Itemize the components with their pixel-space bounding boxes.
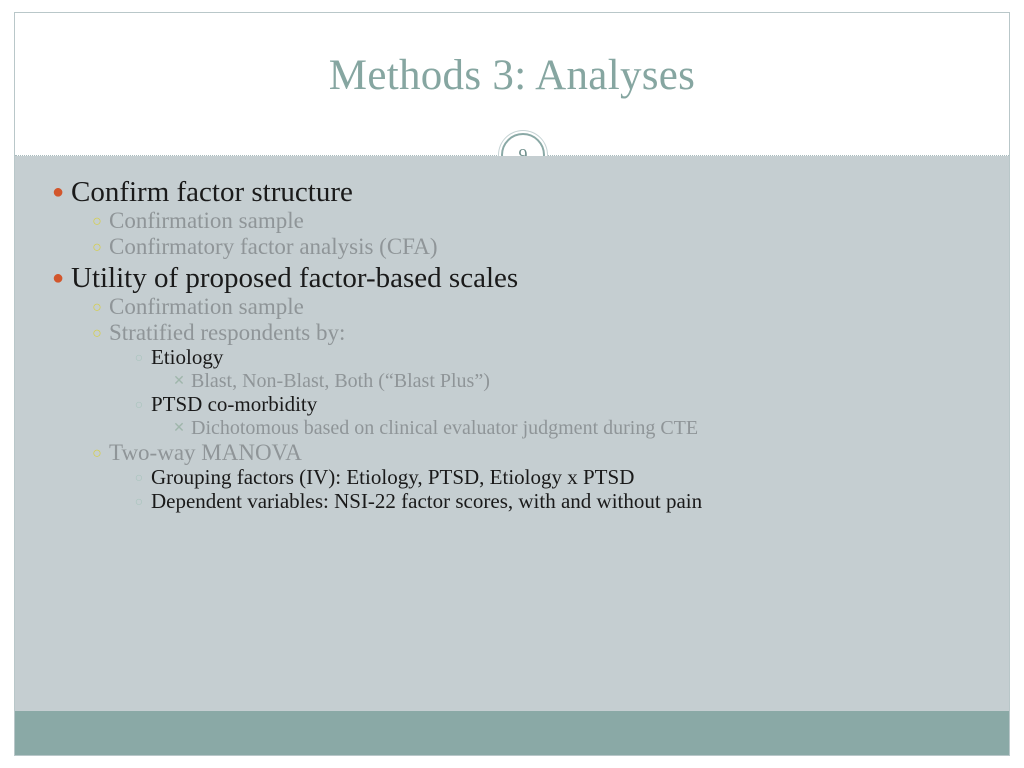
bullet-text: Two-way MANOVA [109, 441, 302, 464]
bullet-row: ○Dependent variables: NSI-22 factor scor… [127, 491, 985, 512]
bullet-text: Dichotomous based on clinical evaluator … [191, 418, 698, 438]
bullet-row: ○Etiology [127, 347, 985, 368]
bullet-row: ○Confirmation sample [85, 295, 985, 318]
bullet-marker-icon: ● [45, 182, 71, 202]
bullet-row: ✕Blast, Non-Blast, Both (“Blast Plus”) [167, 371, 985, 391]
bullet-text: PTSD co-morbidity [151, 394, 317, 415]
bullet-row: ○Two-way MANOVA [85, 441, 985, 464]
bullet-marker-icon: ✕ [167, 375, 191, 389]
bullet-text: Grouping factors (IV): Etiology, PTSD, E… [151, 467, 634, 488]
bullet-text: Confirmation sample [109, 295, 304, 318]
bullet-marker-icon: ○ [85, 300, 109, 316]
bullet-row: ○Stratified respondents by: [85, 321, 985, 344]
footer-bar [15, 711, 1009, 755]
bullet-list: ●Confirm factor structure○Confirmation s… [39, 178, 985, 512]
bullet-marker-icon: ✕ [167, 422, 191, 436]
bullet-marker-icon: ● [45, 268, 71, 288]
bullet-marker-icon: ○ [85, 446, 109, 462]
page-title: Methods 3: Analyses [15, 51, 1009, 100]
bullet-text: Utility of proposed factor-based scales [71, 264, 518, 293]
bullet-row: ○PTSD co-morbidity [127, 394, 985, 415]
bullet-marker-icon: ○ [85, 240, 109, 256]
slide-body: ●Confirm factor structure○Confirmation s… [15, 156, 1009, 713]
bullet-marker-icon: ○ [127, 496, 151, 510]
bullet-text: Blast, Non-Blast, Both (“Blast Plus”) [191, 371, 490, 391]
bullet-text: Stratified respondents by: [109, 321, 345, 344]
slide-canvas: Methods 3: Analyses 9 ●Confirm factor st… [14, 12, 1010, 756]
bullet-text: Dependent variables: NSI-22 factor score… [151, 491, 702, 512]
bullet-text: Etiology [151, 347, 223, 368]
bullet-marker-icon: ○ [127, 399, 151, 413]
bullet-marker-icon: ○ [127, 352, 151, 366]
bullet-marker-icon: ○ [85, 326, 109, 342]
bullet-row: ●Confirm factor structure [45, 178, 985, 207]
bullet-marker-icon: ○ [127, 472, 151, 486]
bullet-row: ○Confirmation sample [85, 209, 985, 232]
bullet-text: Confirm factor structure [71, 178, 353, 207]
bullet-text: Confirmatory factor analysis (CFA) [109, 235, 438, 258]
bullet-row: ✕Dichotomous based on clinical evaluator… [167, 418, 985, 438]
bullet-row: ●Utility of proposed factor-based scales [45, 264, 985, 293]
bullet-marker-icon: ○ [85, 214, 109, 230]
bullet-text: Confirmation sample [109, 209, 304, 232]
bullet-row: ○Grouping factors (IV): Etiology, PTSD, … [127, 467, 985, 488]
bullet-row: ○Confirmatory factor analysis (CFA) [85, 235, 985, 258]
